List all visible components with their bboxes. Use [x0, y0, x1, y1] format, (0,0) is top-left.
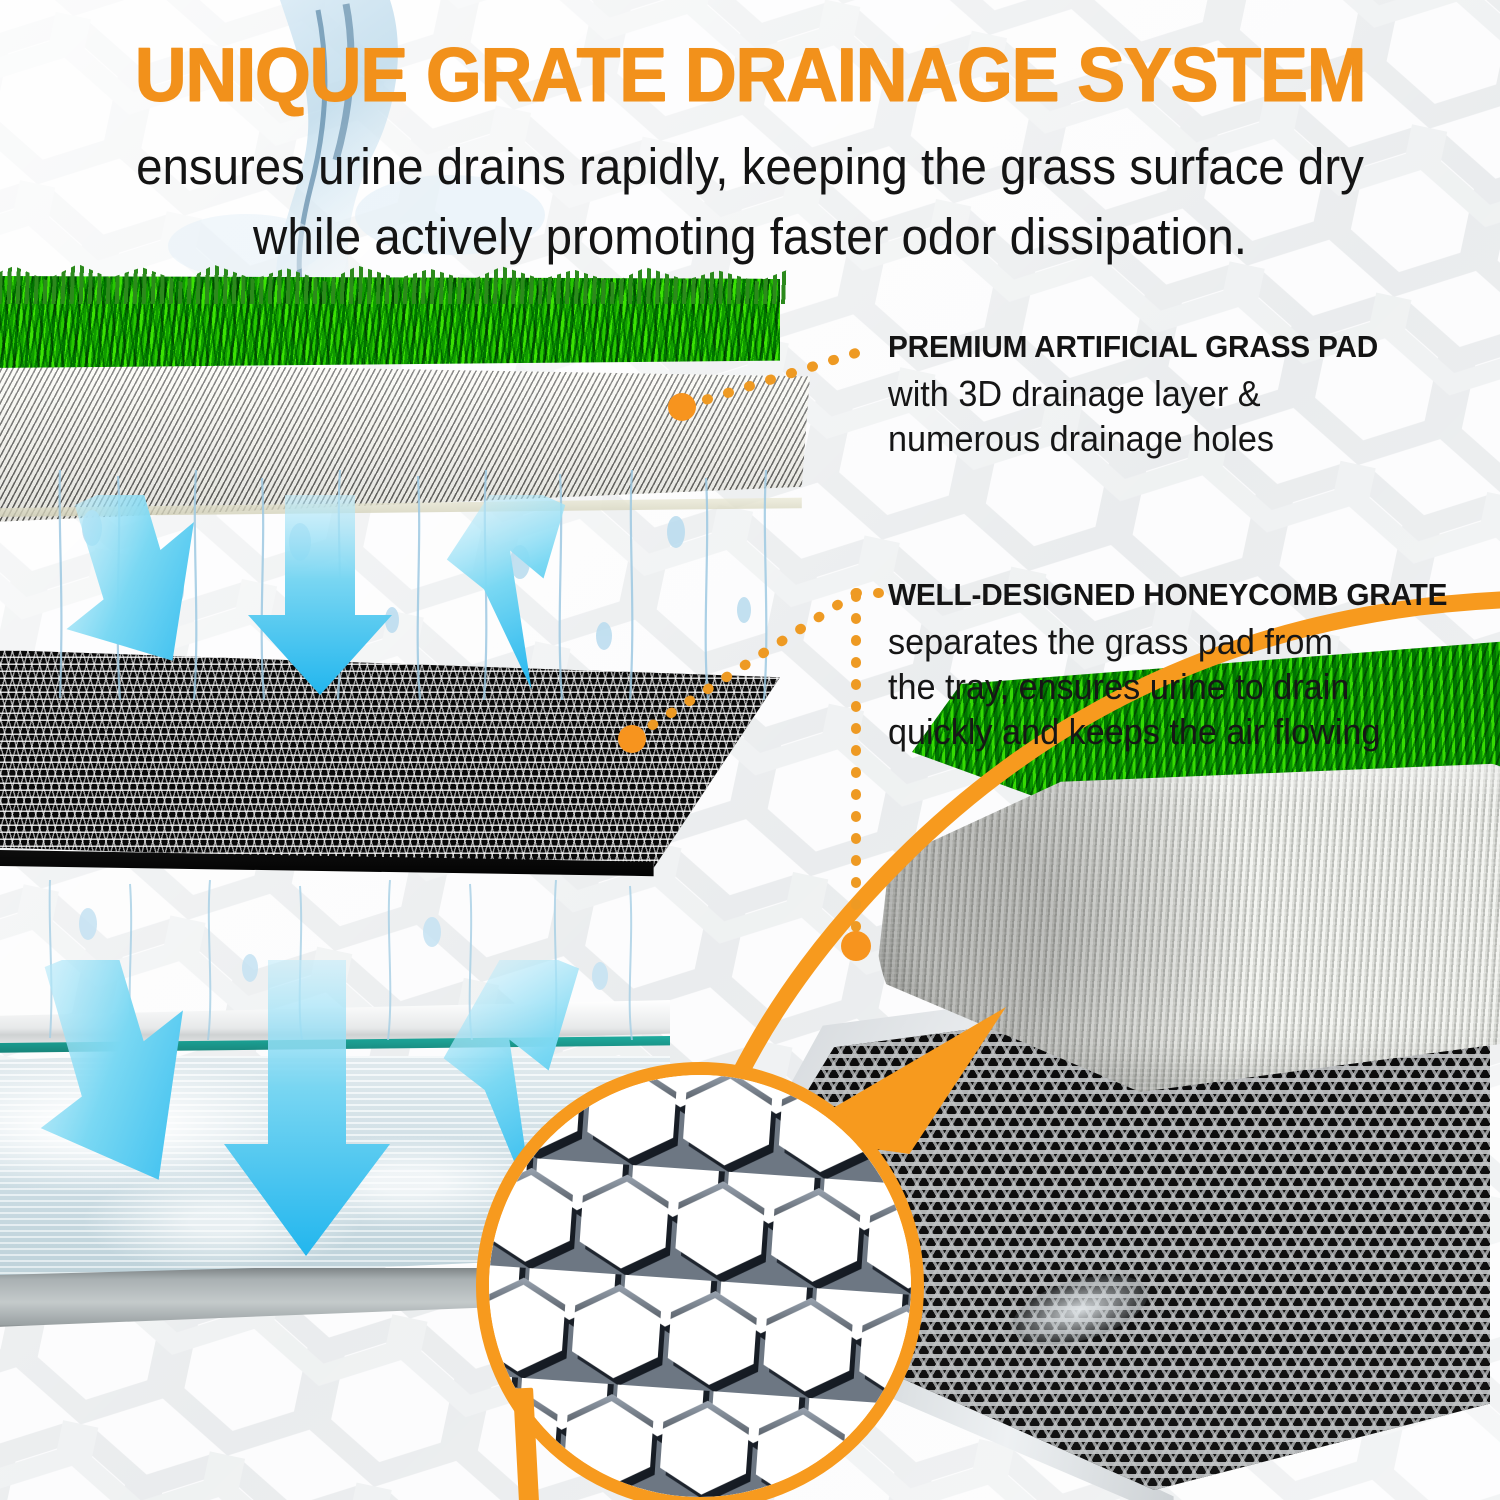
grate-top-surface: [0, 645, 780, 875]
magnifier-lens-content: [489, 1075, 911, 1497]
callout-grass-body-line-1: with 3D drainage layer &: [888, 371, 1458, 416]
callout-grass-title: PREMIUM ARTIFICIAL GRASS PAD: [888, 330, 1464, 365]
callout-grass-body-line-2: numerous drainage holes: [888, 416, 1458, 461]
callout-grate-body: separates the grass pad from the tray, e…: [888, 619, 1458, 754]
magnifier-honeycomb-closeup: [476, 1062, 924, 1500]
callout-grate-body-line-1: separates the grass pad from: [888, 619, 1458, 664]
callout-grass-body: with 3D drainage layer & numerous draina…: [888, 371, 1458, 461]
page-subtitle: ensures urine drains rapidly, keeping th…: [71, 132, 1429, 273]
callout-premium-artificial-grass-pad: PREMIUM ARTIFICIAL GRASS PAD with 3D dra…: [888, 330, 1488, 461]
layer-honeycomb-grate: [0, 645, 790, 900]
infographic-canvas: UNIQUE GRATE DRAINAGE SYSTEM ensures uri…: [0, 0, 1500, 1500]
callout-grate-body-line-2: the tray, ensures urine to drain: [888, 664, 1458, 709]
callout-grate-title: WELL-DESIGNED HONEYCOMB GRATE: [888, 578, 1464, 613]
callout-grate-body-line-3: quickly and keeps the air flowing: [888, 709, 1458, 754]
page-title: UNIQUE GRATE DRAINAGE SYSTEM: [45, 38, 1455, 114]
subtitle-line-2: while actively promoting faster odor dis…: [71, 202, 1429, 272]
layer-artificial-grass-pad: [0, 276, 800, 386]
subtitle-line-1: ensures urine drains rapidly, keeping th…: [136, 138, 1364, 195]
magnifier-ring: [476, 1062, 924, 1500]
callout-well-designed-honeycomb-grate: WELL-DESIGNED HONEYCOMB GRATE separates …: [888, 578, 1488, 754]
